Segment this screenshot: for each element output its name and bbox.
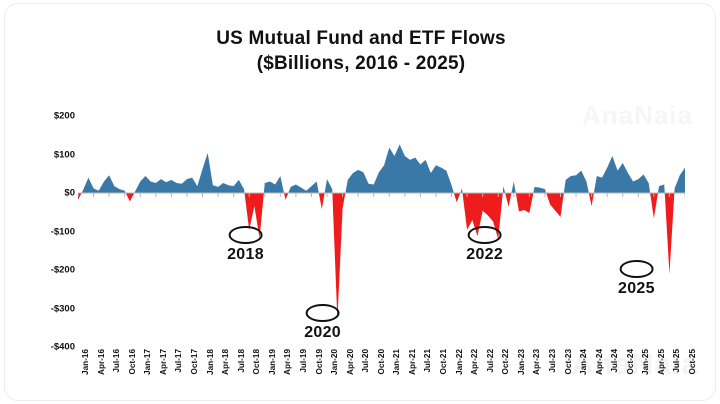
positive-flow-area	[134, 153, 244, 193]
positive-flow-area	[345, 144, 454, 193]
negative-flow-area	[284, 193, 288, 200]
x-axis-label: Jan-22	[455, 349, 464, 375]
negative-flow-area	[505, 193, 511, 207]
callout-ellipse-icon	[619, 260, 653, 278]
x-axis-label: Oct-23	[564, 349, 573, 374]
x-axis-label: Apr-23	[532, 349, 541, 375]
y-axis-label: -$200	[23, 265, 75, 276]
x-axis-label: Jan-19	[268, 349, 277, 375]
x-axis-label: Jul-18	[237, 349, 246, 373]
positive-flow-area	[658, 185, 665, 193]
x-axis-label: Apr-18	[221, 349, 230, 375]
x-axis-label: Oct-22	[501, 349, 510, 374]
chart-title: US Mutual Fund and ETF Flows	[5, 26, 716, 51]
negative-flow-area	[319, 193, 325, 209]
callout-ellipse-icon	[468, 226, 502, 244]
x-axis-label: Jan-25	[641, 349, 650, 375]
chart-plot-area	[78, 116, 685, 347]
positive-flow-area	[82, 175, 126, 193]
negative-flow-area	[454, 193, 460, 202]
x-axis-label: Oct-25	[688, 349, 697, 374]
y-axis-label: $200	[23, 111, 75, 122]
callout-year-label: 2022	[466, 246, 503, 264]
callout-year-label: 2025	[618, 280, 655, 298]
x-axis-label: Apr-24	[595, 349, 604, 375]
x-axis-label: Oct-17	[190, 349, 199, 374]
y-axis-label: -$100	[23, 226, 75, 237]
positive-flow-area	[533, 187, 546, 193]
negative-flow-area	[546, 193, 564, 217]
callout-year-label: 2020	[304, 324, 341, 342]
callout-ellipse-icon	[228, 226, 262, 244]
x-axis-label: Oct-19	[315, 349, 324, 374]
negative-flow-area	[665, 193, 675, 274]
x-axis-label: Jul-16	[112, 349, 121, 373]
x-axis-label: Jul-21	[423, 349, 432, 373]
x-axis-label: Jul-19	[299, 349, 308, 373]
x-axis-label: Jan-18	[206, 349, 215, 375]
positive-flow-area	[264, 176, 284, 193]
x-axis-label: Apr-22	[470, 349, 479, 375]
chart-title-block: US Mutual Fund and ETF Flows ($Billions,…	[5, 26, 716, 76]
x-axis-label: Oct-16	[128, 349, 137, 374]
x-axis-label: Oct-24	[626, 349, 635, 374]
x-axis-label: Jan-20	[330, 349, 339, 375]
x-axis-label: Jul-24	[610, 349, 619, 373]
x-axis-label: Apr-21	[408, 349, 417, 375]
positive-flow-area	[288, 181, 319, 193]
x-axis-label: Apr-25	[657, 349, 666, 375]
chart-subtitle: ($Billions, 2016 - 2025)	[5, 51, 716, 76]
negative-flow-area	[332, 193, 345, 320]
positive-flow-area	[564, 171, 589, 193]
x-axis-label: Jan-21	[392, 349, 401, 375]
negative-flow-area	[126, 193, 134, 201]
negative-flow-area	[516, 193, 534, 213]
y-axis-labels: $200$100$0-$100-$200-$300-$400	[19, 116, 75, 347]
x-axis-label: Jul-17	[174, 349, 183, 373]
x-axis-label: Jan-17	[143, 349, 152, 375]
callout-year-label: 2018	[227, 246, 264, 264]
x-axis-label: Apr-20	[346, 349, 355, 375]
x-axis-label: Jan-16	[81, 349, 90, 375]
positive-flow-area	[594, 156, 650, 193]
positive-flow-area	[325, 179, 333, 193]
x-axis-label: Oct-20	[377, 349, 386, 374]
y-axis-label: -$400	[23, 342, 75, 353]
callout-ellipse-icon	[306, 304, 340, 322]
positive-flow-area	[503, 186, 505, 193]
x-axis-label: Apr-16	[97, 349, 106, 375]
y-axis-label: $100	[23, 149, 75, 160]
y-axis-label: -$300	[23, 303, 75, 314]
year-callout: 2022	[466, 226, 503, 264]
negative-flow-area	[78, 193, 82, 200]
screenshot-root: US Mutual Fund and ETF Flows ($Billions,…	[0, 0, 720, 404]
positive-flow-area	[460, 188, 462, 193]
area-chart-svg	[78, 116, 685, 347]
year-callout: 2018	[227, 226, 264, 264]
chart-card: US Mutual Fund and ETF Flows ($Billions,…	[4, 3, 716, 401]
year-callout: 2020	[304, 304, 341, 342]
x-axis-label: Jan-23	[517, 349, 526, 375]
x-axis-label: Apr-17	[159, 349, 168, 375]
x-axis-label: Jul-22	[486, 349, 495, 373]
x-axis-labels: Jan-16Apr-16Jul-16Oct-16Jan-17Apr-17Jul-…	[78, 349, 685, 399]
y-axis-label: $0	[23, 188, 75, 199]
x-axis-label: Jul-25	[672, 349, 681, 373]
positive-flow-area	[674, 168, 685, 193]
x-axis-label: Oct-21	[439, 349, 448, 374]
x-axis-label: Oct-18	[252, 349, 261, 374]
positive-flow-area	[511, 181, 515, 193]
x-axis-label: Jul-23	[548, 349, 557, 373]
x-axis-label: Jan-24	[579, 349, 588, 375]
x-axis-label: Jul-20	[361, 349, 370, 373]
year-callout: 2025	[618, 260, 655, 298]
x-axis-label: Apr-19	[283, 349, 292, 375]
